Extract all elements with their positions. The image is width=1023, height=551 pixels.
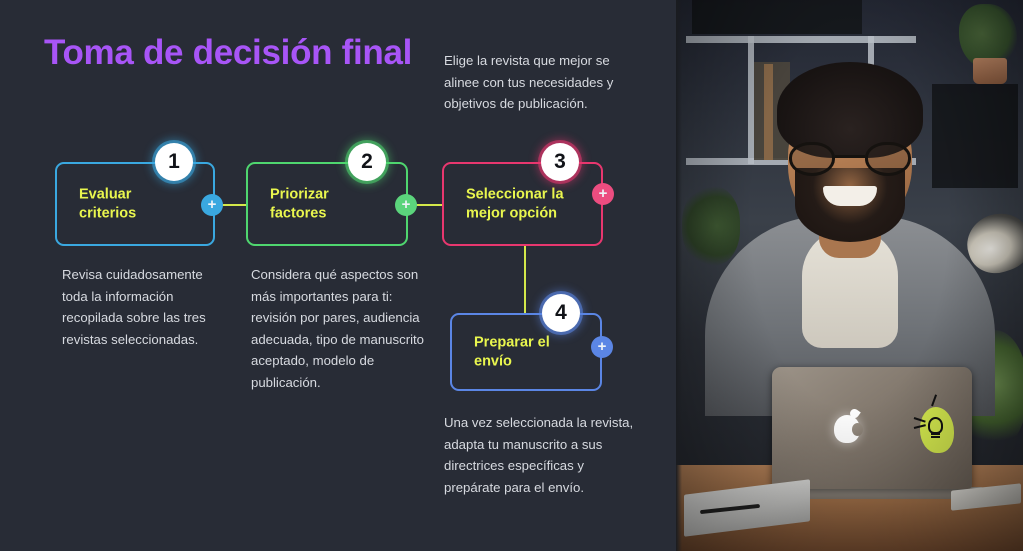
step-number-4: 4 <box>542 294 580 332</box>
plant-pot <box>973 58 1007 84</box>
photo-left-edge <box>676 0 682 551</box>
shelf-cell-dark-right <box>932 84 1018 188</box>
page-title: Toma de decisión final <box>44 33 412 73</box>
plus-icon-1[interactable]: + <box>201 194 223 216</box>
sticker-bulb-shape <box>928 417 943 434</box>
flow-node-priorizar-factores[interactable]: Priorizar factores <box>246 162 408 246</box>
node-caption-1: Revisa cuidadosamente toda la informació… <box>62 264 212 350</box>
connector-3-4 <box>524 246 526 314</box>
flow-node-preparar-envio[interactable]: Preparar el envío <box>450 313 602 391</box>
glasses-lens-left <box>789 142 835 176</box>
glasses-lens-right <box>865 142 911 176</box>
node-caption-4: Una vez seleccionada la revista, adapta … <box>444 412 634 498</box>
person-smile <box>823 186 877 206</box>
plant-left <box>682 186 740 266</box>
step-number-2: 2 <box>348 143 386 181</box>
intro-caption: Elige la revista que mejor se alinee con… <box>444 50 640 115</box>
flow-node-evaluar-criterios[interactable]: Evaluar criterios <box>55 162 215 246</box>
content-panel: Toma de decisión final Elige la revista … <box>0 0 676 551</box>
plus-icon-4[interactable]: + <box>591 336 613 358</box>
book-spine <box>764 64 773 160</box>
flow-node-label: Priorizar factores <box>270 186 329 223</box>
glasses-icon <box>787 142 913 176</box>
plus-icon-2[interactable]: + <box>395 194 417 216</box>
node-caption-2: Considera qué aspectos son más important… <box>251 264 426 393</box>
sticker-ray-3 <box>931 394 937 406</box>
flow-node-seleccionar-mejor-opcion[interactable]: Seleccionar la mejor opción <box>442 162 603 246</box>
flow-node-label: Evaluar criterios <box>79 186 136 223</box>
step-number-1: 1 <box>155 143 193 181</box>
glasses-bridge <box>835 155 865 158</box>
laptop-lid <box>772 367 972 489</box>
shelf-cell-dark-top <box>692 0 862 34</box>
photo-panel <box>676 0 1023 551</box>
step-number-3: 3 <box>541 143 579 181</box>
flow-node-label: Preparar el envío <box>474 334 550 371</box>
apple-logo-icon <box>834 415 860 443</box>
shelf-board-top <box>686 36 916 43</box>
plus-icon-3[interactable]: + <box>592 183 614 205</box>
slide-canvas: Toma de decisión final Elige la revista … <box>0 0 1023 551</box>
flow-node-label: Seleccionar la mejor opción <box>466 186 564 223</box>
lightbulb-head-sticker-icon <box>916 405 956 455</box>
sticker-bulb-base <box>931 433 940 438</box>
